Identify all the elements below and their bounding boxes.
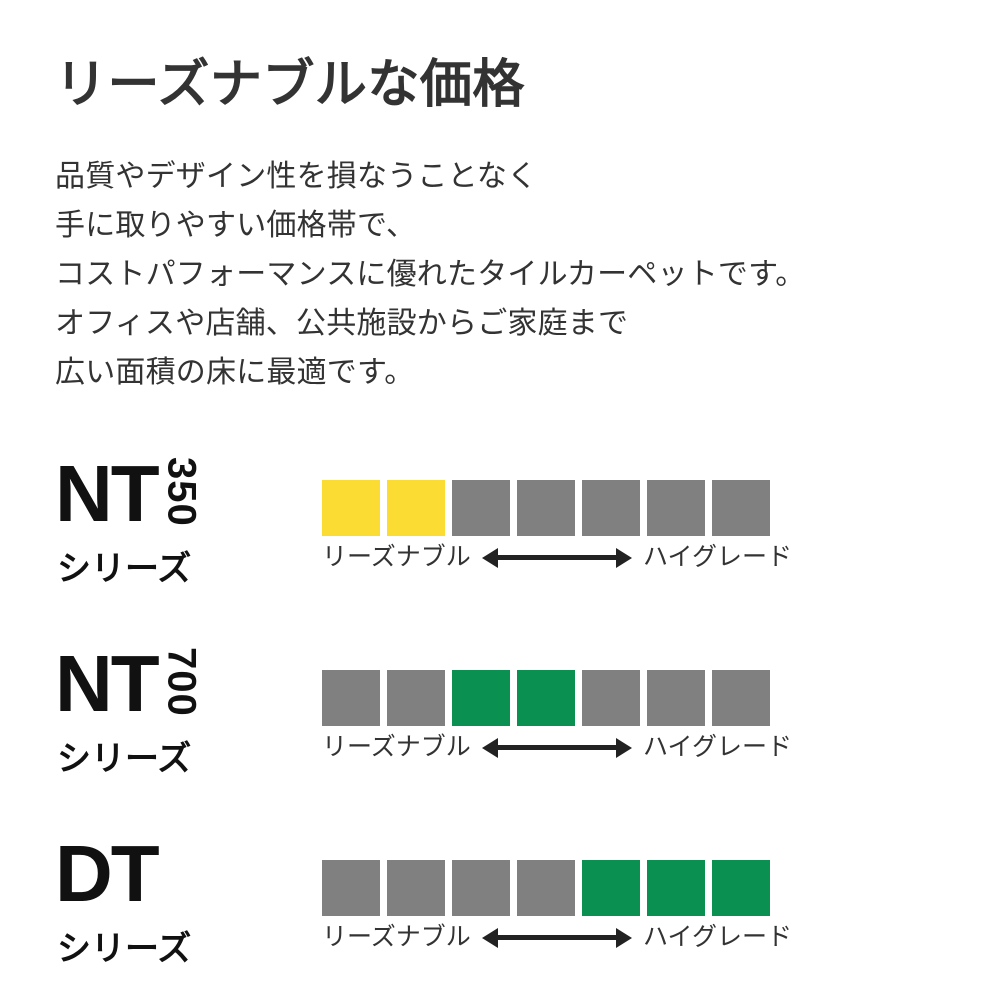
description-paragraph: 品質やデザイン性を損なうことなく 手に取りやすい価格帯で、 コストパフォーマンス… [55, 152, 806, 397]
double-headed-arrow-icon [482, 548, 632, 568]
grade-swatch [517, 480, 575, 536]
grade-swatch [387, 860, 445, 916]
series-label-nt350: NT 350 シリーズ [55, 455, 295, 600]
description-line-5: 広い面積の床に最適です。 [55, 348, 806, 397]
grade-swatch [452, 860, 510, 916]
scale-high-label: ハイグレード [643, 545, 792, 570]
series-number: 700 [162, 647, 202, 725]
grade-scale-caption: リーズナブル ハイグレード [322, 545, 792, 570]
grade-swatch [647, 670, 705, 726]
grade-swatch-strip [322, 860, 792, 916]
scale-high-label: ハイグレード [643, 735, 792, 760]
grade-swatch [647, 480, 705, 536]
double-headed-arrow-icon [482, 738, 632, 758]
arrow-bar [496, 555, 618, 560]
series-code: NT [55, 455, 158, 533]
grade-swatch [452, 670, 510, 726]
scale-low-label: リーズナブル [322, 735, 471, 760]
series-code: DT [55, 835, 158, 913]
series-row-nt350: NT 350 シリーズ リーズナブル ハイグレード [0, 455, 1000, 605]
grade-swatch [582, 480, 640, 536]
page-title: リーズナブルな価格 [55, 56, 525, 116]
grade-scale-caption: リーズナブル ハイグレード [322, 735, 792, 760]
grade-swatch [712, 670, 770, 726]
grade-swatch [582, 670, 640, 726]
series-row-dt: DT シリーズ リーズナブル ハイグレード [0, 835, 1000, 985]
grade-swatch [322, 480, 380, 536]
description-line-4: オフィスや店舗、公共施設からご家庭まで [55, 299, 806, 348]
grade-swatch [712, 480, 770, 536]
description-line-2: 手に取りやすい価格帯で、 [55, 201, 806, 250]
grade-swatch-strip [322, 670, 792, 726]
series-code-block: NT 350 [55, 455, 202, 537]
series-code-block: DT [55, 835, 158, 917]
page-root: リーズナブルな価格 品質やデザイン性を損なうことなく 手に取りやすい価格帯で、 … [0, 0, 1000, 1000]
grade-swatch [712, 860, 770, 916]
series-label-nt700: NT 700 シリーズ [55, 645, 295, 790]
series-label-dt: DT シリーズ [55, 835, 295, 980]
grade-swatch [647, 860, 705, 916]
grade-swatch [387, 670, 445, 726]
scale-high-label: ハイグレード [643, 925, 792, 950]
series-code: NT [55, 645, 158, 723]
series-suffix: シリーズ [57, 921, 191, 970]
grade-swatch [582, 860, 640, 916]
grade-swatch [517, 860, 575, 916]
scale-low-label: リーズナブル [322, 925, 471, 950]
series-code-block: NT 700 [55, 645, 202, 727]
arrow-head-right [616, 738, 632, 758]
arrow-head-right [616, 548, 632, 568]
double-headed-arrow-icon [482, 928, 632, 948]
arrow-head-right [616, 928, 632, 948]
grade-swatch [322, 670, 380, 726]
grade-swatch [452, 480, 510, 536]
description-line-1: 品質やデザイン性を損なうことなく [55, 152, 806, 201]
series-row-nt700: NT 700 シリーズ リーズナブル ハイグレード [0, 645, 1000, 795]
arrow-bar [496, 935, 618, 940]
series-suffix: シリーズ [57, 541, 191, 590]
grade-swatch [517, 670, 575, 726]
grade-swatch [322, 860, 380, 916]
grade-swatch-strip [322, 480, 792, 536]
grade-swatch [387, 480, 445, 536]
arrow-bar [496, 745, 618, 750]
series-number: 350 [162, 457, 202, 535]
scale-low-label: リーズナブル [322, 545, 471, 570]
series-suffix: シリーズ [57, 731, 191, 780]
description-line-3: コストパフォーマンスに優れたタイルカーペットです。 [55, 250, 806, 299]
grade-scale-caption: リーズナブル ハイグレード [322, 925, 792, 950]
